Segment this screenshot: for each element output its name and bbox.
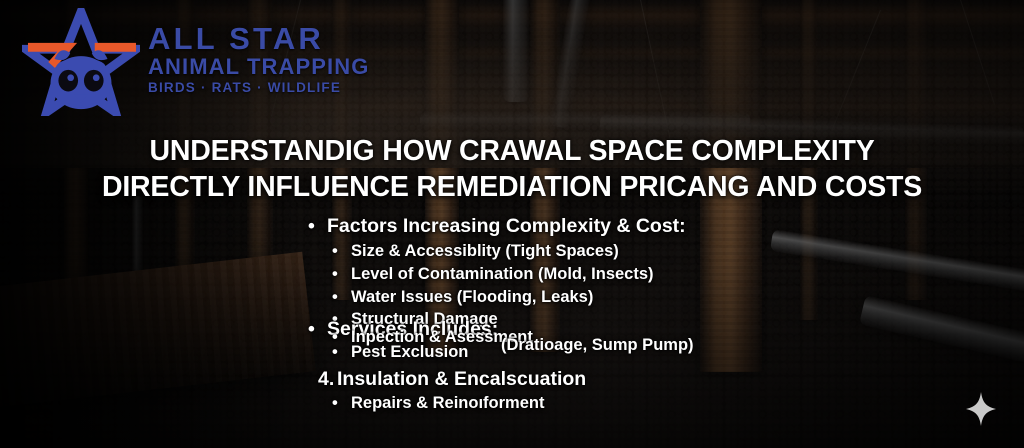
bullet-icon: • bbox=[308, 215, 327, 238]
list-item-label: Pest Exclusion bbox=[351, 343, 468, 361]
list-number: 4. bbox=[318, 368, 337, 391]
slide-content: ALL STAR ANIMAL TRAPPING BIRDS · RATS · … bbox=[0, 0, 1024, 448]
list-item-label: Repairs & Reinoıforment bbox=[351, 394, 544, 412]
list-item: •Water Issues (Flooding, Leaks) bbox=[332, 288, 593, 307]
list-item-label: Insulation & Encalscuation bbox=[337, 368, 586, 390]
list-item: •Pest Exclusion bbox=[332, 343, 468, 362]
bullet-list: •Factors Increasing Complexity & Cost:•S… bbox=[0, 0, 1024, 448]
list-item: •Repairs & Reinoıforment bbox=[332, 394, 544, 413]
list-item-label: Level of Contamination (Mold, Insects) bbox=[351, 265, 654, 283]
list-item-label: Water Issues (Flooding, Leaks) bbox=[351, 288, 593, 306]
list-item: •Factors Increasing Complexity & Cost: bbox=[308, 215, 686, 238]
bullet-icon: • bbox=[332, 394, 351, 413]
bullet-icon: • bbox=[332, 343, 351, 362]
list-item: 4.Insulation & Encalscuation bbox=[318, 368, 586, 391]
bullet-icon: • bbox=[332, 265, 351, 284]
slide-canvas: ALL STAR ANIMAL TRAPPING BIRDS · RATS · … bbox=[0, 0, 1024, 448]
four-point-sparkle-icon bbox=[966, 392, 996, 426]
list-item: •Level of Contamination (Mold, Insects) bbox=[332, 265, 654, 284]
list-item: •Size & Accessiblity (Tight Spaces) bbox=[332, 242, 619, 261]
bullet-icon: • bbox=[308, 318, 327, 341]
list-item-label: Size & Accessiblity (Tight Spaces) bbox=[351, 242, 619, 260]
list-item-label: (Dratioage, Sump Pump) bbox=[501, 336, 694, 354]
list-item: (Dratioage, Sump Pump) bbox=[501, 336, 694, 355]
list-item-label: Factors Increasing Complexity & Cost: bbox=[327, 215, 686, 237]
bullet-icon: • bbox=[332, 288, 351, 307]
bullet-icon: • bbox=[332, 242, 351, 261]
